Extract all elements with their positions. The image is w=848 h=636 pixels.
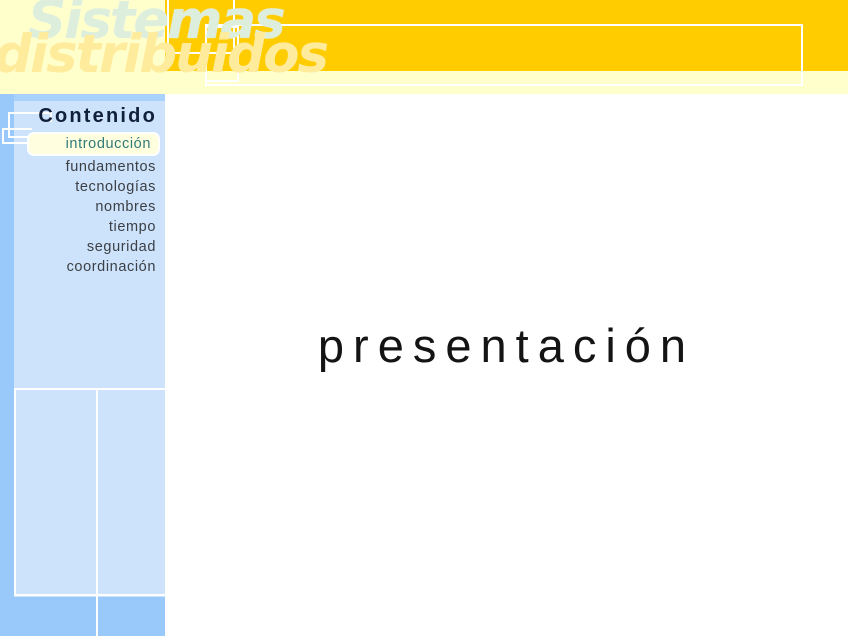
sidebar-item-nombres[interactable]: nombres <box>0 197 165 217</box>
sidebar-heading: Contenido <box>38 106 157 126</box>
sidebar-item-tiempo[interactable]: tiempo <box>0 217 165 237</box>
sidebar-item-tecnologias[interactable]: tecnologías <box>0 177 165 197</box>
sidebar-bottom-accent-band <box>0 597 165 636</box>
sidebar-decorative-vertical-rule <box>96 388 98 636</box>
sidebar-item-coordinacion[interactable]: coordinación <box>0 257 165 277</box>
sidebar-top-accent <box>0 94 165 101</box>
sidebar-nav: introducción fundamentos tecnologías nom… <box>0 132 165 277</box>
banner-gold-block <box>165 0 848 71</box>
header-banner: Sistemas distribuidos <box>0 0 848 94</box>
sidebar-item-fundamentos[interactable]: fundamentos <box>0 157 165 177</box>
slide-content-area: presentación <box>165 94 848 636</box>
sidebar-decorative-rect <box>14 388 165 596</box>
slide-root: Sistemas distribuidos Contenido introduc… <box>0 0 848 636</box>
sidebar: Contenido introducción fundamentos tecno… <box>0 94 165 636</box>
sidebar-item-seguridad[interactable]: seguridad <box>0 237 165 257</box>
banner-cream-left-block <box>0 0 165 94</box>
sidebar-item-introduccion[interactable]: introducción <box>27 132 160 156</box>
slide-title: presentación <box>165 322 848 369</box>
